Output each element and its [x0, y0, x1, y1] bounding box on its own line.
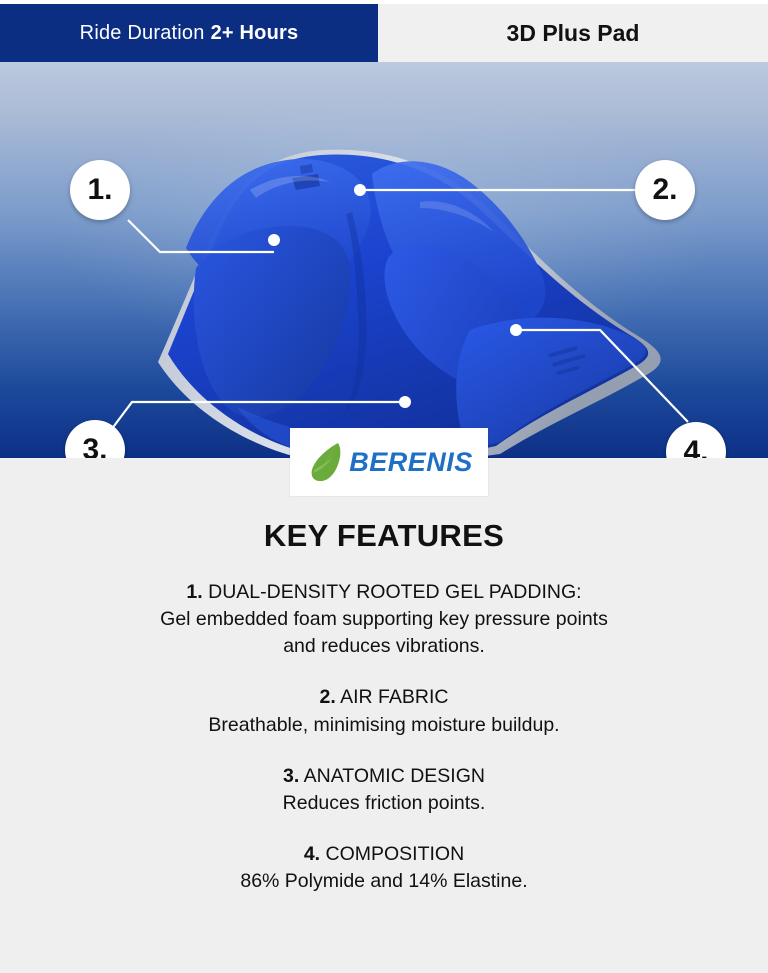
product-infographic: Ride Duration 2+ Hours 3D Plus Pad — [0, 0, 768, 973]
brand-logo: BERENIS — [290, 428, 488, 496]
key-features-heading: KEY FEATURES — [0, 518, 768, 554]
ride-duration-label: Ride Duration — [80, 22, 205, 45]
feature-3-title: ANATOMIC DESIGN — [299, 765, 485, 787]
callout-marker-1[interactable]: 1. — [70, 160, 130, 220]
header-top-strip — [0, 0, 768, 4]
callout-label-3: 3. — [82, 435, 107, 458]
feature-1-body-line2: and reduces vibrations. — [60, 634, 708, 659]
feature-4-title: COMPOSITION — [320, 843, 464, 865]
feature-2-number: 2. — [320, 686, 336, 708]
feature-3-body-line1: Reduces friction points. — [60, 791, 708, 816]
feature-1-number: 1. — [186, 581, 202, 603]
feature-1-title: DUAL-DENSITY ROOTED GEL PADDING: — [203, 581, 582, 603]
callout-label-1: 1. — [87, 175, 112, 205]
ride-duration-value: 2+ Hours — [211, 22, 299, 45]
ride-duration-banner: Ride Duration 2+ Hours — [0, 4, 378, 62]
key-features-section: KEY FEATURES 1. DUAL-DENSITY ROOTED GEL … — [0, 458, 768, 973]
gel-pad-illustration — [0, 62, 768, 458]
product-photo-panel: 1. 2. 3. 4. — [0, 62, 768, 458]
feature-item-2: 2. AIR FABRIC Breathable, minimising moi… — [0, 685, 768, 737]
feature-4-heading: 4. COMPOSITION — [60, 842, 708, 867]
page-title: 3D Plus Pad — [507, 20, 640, 47]
product-title-banner: 3D Plus Pad — [378, 4, 768, 62]
feature-2-body-line1: Breathable, minimising moisture buildup. — [60, 713, 708, 738]
leaf-icon — [305, 440, 345, 484]
gel-pad-image — [0, 62, 768, 458]
feature-item-1: 1. DUAL-DENSITY ROOTED GEL PADDING: Gel … — [0, 580, 768, 659]
callout-label-4: 4. — [683, 437, 708, 458]
feature-4-number: 4. — [304, 843, 320, 865]
feature-1-body-line1: Gel embedded foam supporting key pressur… — [60, 607, 708, 632]
feature-2-heading: 2. AIR FABRIC — [60, 685, 708, 710]
header-bar: Ride Duration 2+ Hours 3D Plus Pad — [0, 0, 768, 62]
feature-2-title: AIR FABRIC — [336, 686, 449, 708]
callout-marker-2[interactable]: 2. — [635, 160, 695, 220]
feature-3-heading: 3. ANATOMIC DESIGN — [60, 764, 708, 789]
feature-1-heading: 1. DUAL-DENSITY ROOTED GEL PADDING: — [60, 580, 708, 605]
feature-item-3: 3. ANATOMIC DESIGN Reduces friction poin… — [0, 764, 768, 816]
callout-label-2: 2. — [652, 175, 677, 205]
brand-name: BERENIS — [349, 447, 473, 478]
feature-item-4: 4. COMPOSITION 86% Polymide and 14% Elas… — [0, 842, 768, 894]
feature-4-body-line1: 86% Polymide and 14% Elastine. — [60, 869, 708, 894]
feature-3-number: 3. — [283, 765, 299, 787]
